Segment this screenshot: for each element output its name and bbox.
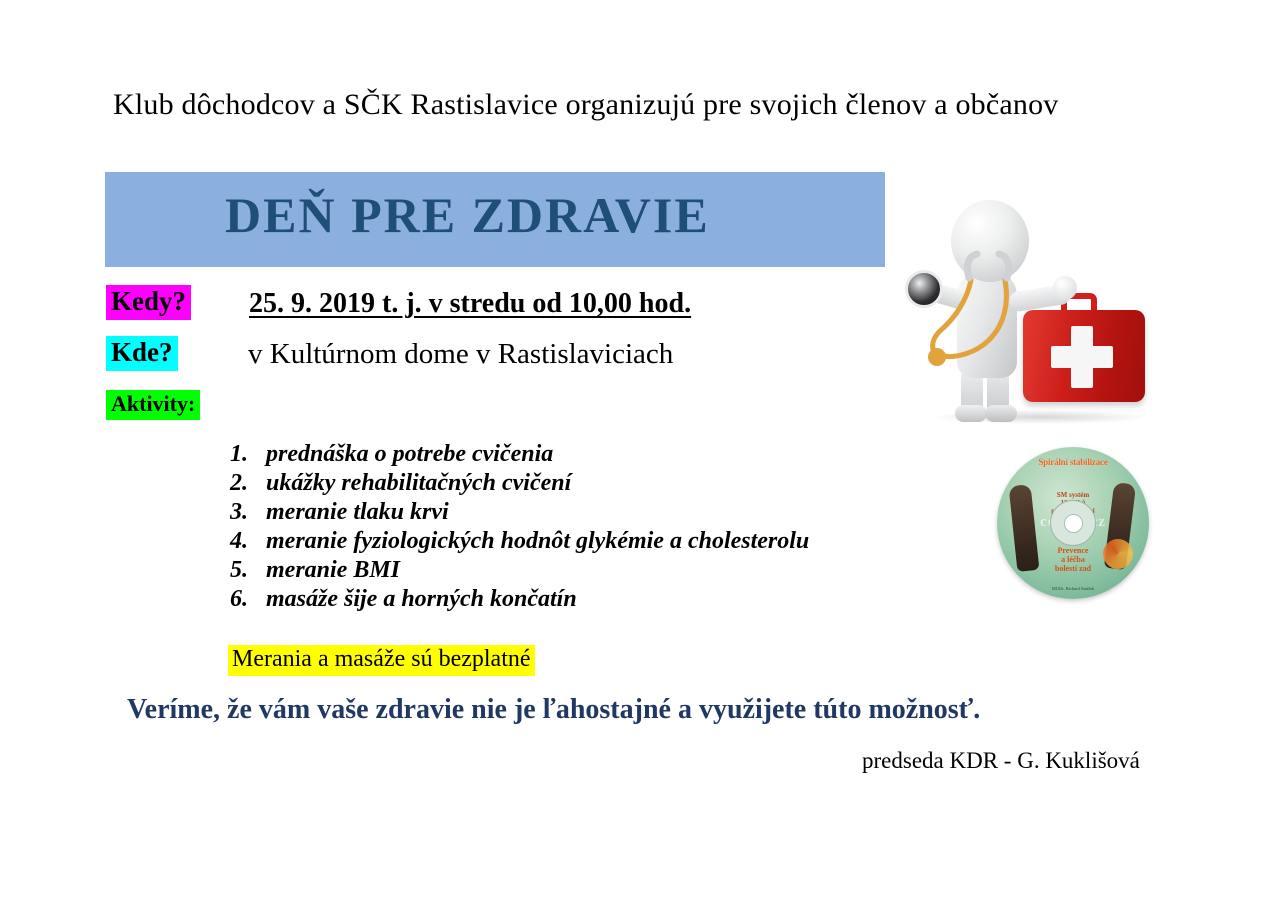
list-item-text: ukážky rehabilitačných cvičení [266,470,571,496]
list-item-text: prednáška o potrebe cvičenia [266,441,553,467]
activities-list: 1.prednáška o potrebe cvičenia 2.ukážky … [230,440,809,614]
list-item-number: 1. [230,440,266,469]
figure-foot-right [985,405,1017,422]
value-when: 25. 9. 2019 t. j. v stredu od 10,00 hod. [249,288,691,320]
page-title: DEŇ PRE ZDRAVIE [225,186,710,244]
figure-head [951,200,1029,282]
cd-disc: Spirální stabilizace SM systém 12 cviků … [997,447,1149,599]
cd-illustration: Spirální stabilizace SM systém 12 cviků … [997,447,1149,599]
figure-body [957,270,1017,378]
list-item: 3.meranie tlaku krvi [230,498,809,527]
figure-foot-left [955,405,987,422]
list-item-number: 3. [230,498,266,527]
closing-message: Veríme, že vám vaše zdravie nie je ľahos… [127,694,980,726]
organizer-header: Klub dôchodcov a SČK Rastislavice organi… [113,88,1059,123]
list-item-number: 5. [230,556,266,585]
list-item-text: meranie fyziologických hodnôt glykémie a… [266,528,809,554]
stethoscope-chestpiece [905,270,943,308]
list-item-text: meranie tlaku krvi [266,499,449,525]
list-item-text: meranie BMI [266,557,400,583]
poster-page: Klub dôchodcov a SČK Rastislavice organi… [0,0,1280,905]
doctor-illustration [893,152,1178,437]
cd-title: Spirální stabilizace [997,457,1149,467]
label-where: Kde? [106,336,178,371]
list-item-number: 6. [230,585,266,614]
title-banner: DEŇ PRE ZDRAVIE [105,172,885,267]
cd-center-hole [1064,514,1083,533]
list-item: 1.prednáška o potrebe cvičenia [230,440,809,469]
list-item: 2.ukážky rehabilitačných cvičení [230,469,809,498]
signature: predseda KDR - G. Kuklišová [862,748,1140,774]
list-item: 4.meranie fyziologických hodnôt glykémie… [230,527,809,556]
list-item-number: 2. [230,469,266,498]
list-item: 6.masáže šije a horných končatín [230,585,809,614]
label-when: Kedy? [106,285,191,320]
value-where: v Kultúrnom dome v Rastislaviciach [248,338,673,371]
list-item-number: 4. [230,527,266,556]
list-item: 5.meranie BMI [230,556,809,585]
figure-hand-right [1053,276,1077,300]
cd-footer-text: MUDr. Richard Smíšek [997,586,1149,592]
medical-cross-icon [1051,346,1113,368]
label-activities: Aktivity: [106,390,200,420]
list-item-text: masáže šije a horných končatín [266,586,577,612]
cd-bottom-text: Prevence a léčba bolestí zad [997,546,1149,573]
free-services-notice: Merania a masáže sú bezplatné [228,645,535,676]
